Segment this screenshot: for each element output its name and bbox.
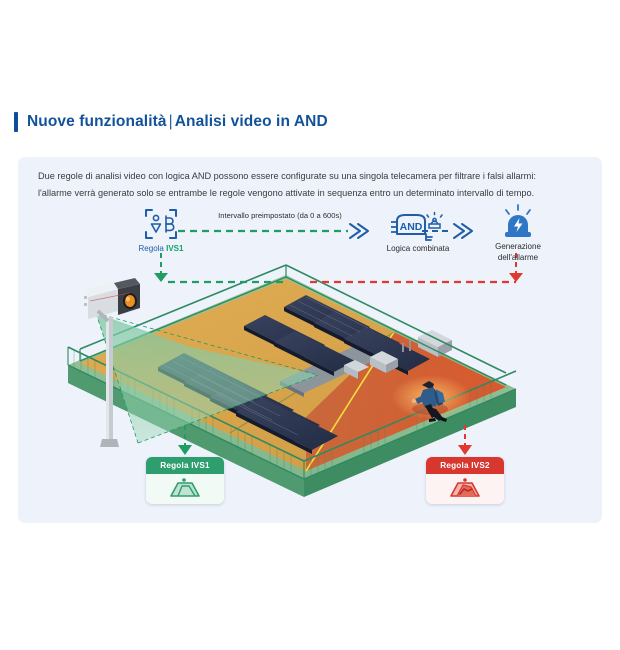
rule-card-ivs2-title: Regola IVS2 xyxy=(426,457,504,474)
rule-card-ivs2-icon-wrap xyxy=(426,474,504,504)
alarm-label-line2: dell'allarme xyxy=(498,253,538,262)
title-sub: Analisi video in AND xyxy=(175,113,328,130)
title-accent-bar xyxy=(14,112,18,132)
intrusion-zone-green-icon xyxy=(165,477,205,501)
title-main: Nuove funzionalità xyxy=(27,113,167,130)
flow-diagram: Regola IVS1 Intervallo preimpostato (da … xyxy=(18,157,602,523)
flow-node-and-logic[interactable]: AND Logica combinata xyxy=(370,207,466,254)
page-root: Nuove funzionalità|Analisi video in AND … xyxy=(0,0,620,650)
and-gate-icon: AND xyxy=(391,207,445,243)
ivs-detection-frame-icon xyxy=(142,205,180,243)
page-title: Nuove funzionalità|Analisi video in AND xyxy=(14,112,328,132)
alarm-beacon-icon xyxy=(498,203,538,241)
content-card: Due regole di analisi video con logica A… xyxy=(18,157,602,523)
alarm-label: Generazione dell'allarme xyxy=(470,241,566,263)
rule-label-prefix: Regola xyxy=(139,244,164,253)
and-logic-label: Logica combinata xyxy=(370,243,466,254)
flow-node-rule-label: Regola IVS1 xyxy=(130,243,192,254)
svg-text:AND: AND xyxy=(400,221,423,233)
flow-node-rule-ivs1[interactable]: Regola IVS1 xyxy=(130,205,192,254)
title-separator: | xyxy=(167,113,175,130)
rule-label-code: IVS1 xyxy=(166,244,183,253)
rule-card-ivs1-icon-wrap xyxy=(146,474,224,504)
rule-card-ivs1-title: Regola IVS1 xyxy=(146,457,224,474)
title-text: Nuove funzionalità|Analisi video in AND xyxy=(27,113,328,131)
alarm-label-line1: Generazione xyxy=(495,242,541,251)
interval-label: Intervallo preimpostato (da 0 a 600s) xyxy=(192,211,368,220)
flow-node-alarm[interactable]: Generazione dell'allarme xyxy=(470,203,566,263)
rule-card-ivs2[interactable]: Regola IVS2 xyxy=(426,457,504,504)
intruder-crossing-red-icon xyxy=(445,477,485,501)
rule-card-ivs1[interactable]: Regola IVS1 xyxy=(146,457,224,504)
